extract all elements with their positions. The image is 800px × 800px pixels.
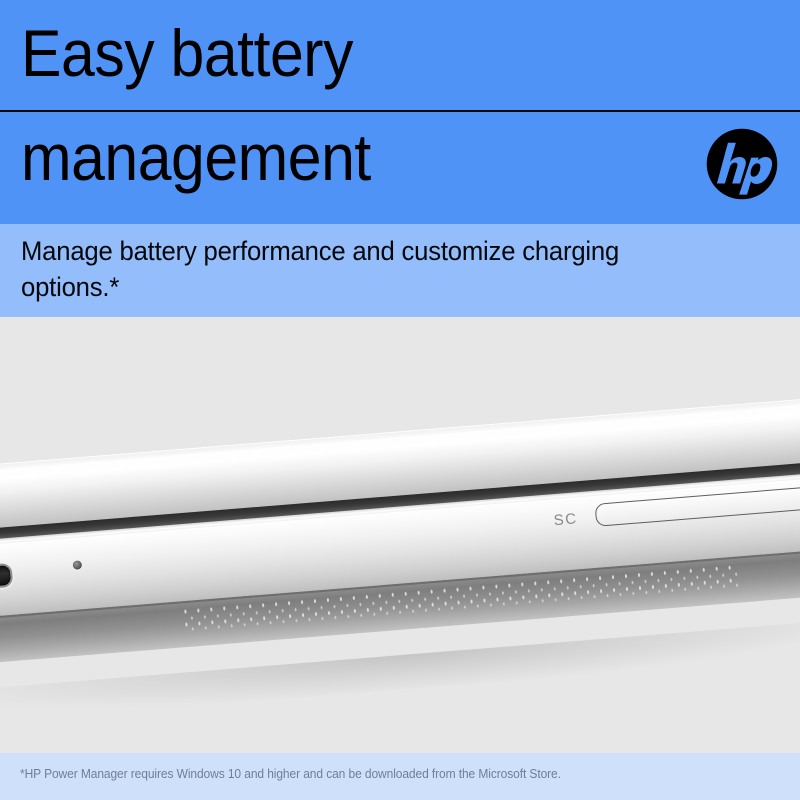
product-stage: SC <box>0 317 800 753</box>
footnote-text: *HP Power Manager requires Windows 10 an… <box>20 767 561 781</box>
laptop-product-image: SC <box>0 395 800 677</box>
hp-logo-icon <box>706 128 778 200</box>
hp-battery-management-poster: Easy battery management Manage battery p… <box>0 0 800 800</box>
subtitle-band: Manage battery performance and customize… <box>0 224 800 317</box>
smart-card-label: SC <box>553 510 578 529</box>
footnote-band: *HP Power Manager requires Windows 10 an… <box>0 753 800 800</box>
headline-line-1: Easy battery <box>21 20 353 86</box>
headline-line-2: management <box>21 124 371 190</box>
subtitle-text: Manage battery performance and customize… <box>21 233 629 305</box>
header-band: Easy battery management <box>0 0 800 224</box>
headline-divider-rule <box>0 110 800 112</box>
